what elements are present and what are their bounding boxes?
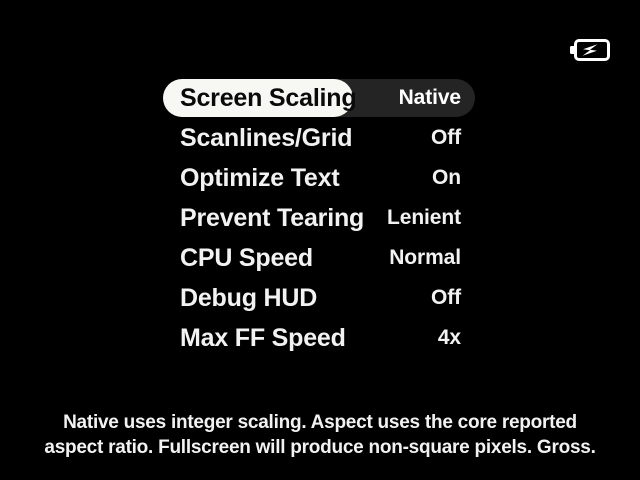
menu-row-prevent-tearing[interactable]: Prevent Tearing Lenient	[0, 198, 640, 238]
menu-value[interactable]: 4x	[300, 318, 461, 358]
menu-value[interactable]: On	[300, 158, 461, 198]
menu-label: CPU Speed	[180, 238, 313, 278]
menu-row-optimize-text[interactable]: Optimize Text On	[0, 158, 640, 198]
menu-value[interactable]: Lenient	[300, 198, 461, 238]
menu-value[interactable]: Off	[300, 278, 461, 318]
settings-menu: Screen Scaling Native Scanlines/Grid Off…	[0, 78, 640, 358]
help-text-line-2: aspect ratio. Fullscreen will produce no…	[0, 435, 640, 460]
menu-value[interactable]: Normal	[300, 238, 461, 278]
help-text: Native uses integer scaling. Aspect uses…	[0, 410, 640, 460]
menu-row-max-ff-speed[interactable]: Max FF Speed 4x	[0, 318, 640, 358]
menu-value[interactable]: Native	[300, 78, 461, 118]
battery-charging-icon	[570, 38, 610, 62]
menu-row-debug-hud[interactable]: Debug HUD Off	[0, 278, 640, 318]
help-text-line-1: Native uses integer scaling. Aspect uses…	[0, 410, 640, 435]
menu-row-screen-scaling[interactable]: Screen Scaling Native	[0, 78, 640, 118]
menu-value[interactable]: Off	[300, 118, 461, 158]
menu-row-scanlines-grid[interactable]: Scanlines/Grid Off	[0, 118, 640, 158]
menu-label: Debug HUD	[180, 278, 317, 318]
menu-row-cpu-speed[interactable]: CPU Speed Normal	[0, 238, 640, 278]
settings-screen: Screen Scaling Native Scanlines/Grid Off…	[0, 0, 640, 480]
